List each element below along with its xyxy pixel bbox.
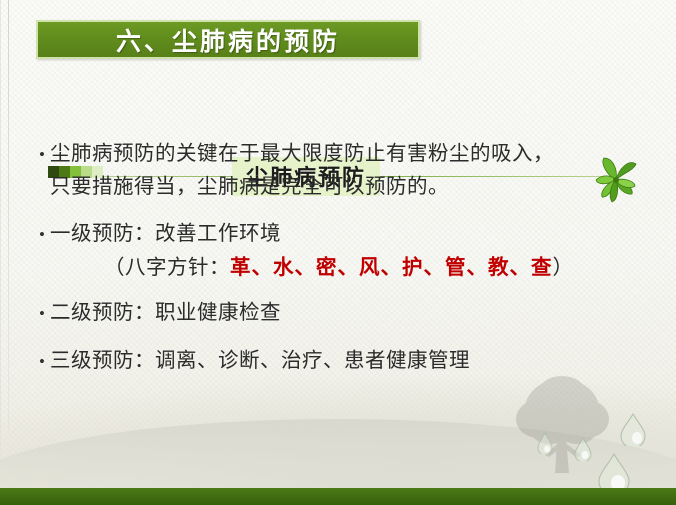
water-droplet-icon	[574, 437, 592, 461]
left-edge-line	[0, 0, 1, 470]
bullet-line-1: 一级预防：改善工作环境	[50, 218, 652, 251]
bullet-marker: •	[34, 218, 50, 252]
water-droplet-icon	[537, 432, 553, 454]
slide-body: • 尘肺病预防的关键在于最大限度防止有害粉尘的吸入， 只要措施得当，尘肺病是完全…	[34, 138, 652, 385]
paren-open: （八字方针：	[104, 257, 230, 279]
slide-canvas: 六、尘肺病的预防 尘肺病预防	[0, 0, 676, 505]
slide-title-box: 六、尘肺病的预防	[36, 20, 420, 59]
page-title: 六、尘肺病的预防	[116, 22, 340, 58]
water-droplet-icon	[598, 453, 630, 493]
bullet-marker: •	[34, 345, 50, 379]
bullet-marker: •	[34, 138, 50, 172]
subtitle-band: 尘肺病预防	[0, 78, 676, 124]
left-margin-rule	[8, 0, 9, 430]
bottom-green-bar	[0, 488, 676, 505]
bullet-text: 三级预防：调离、诊断、治疗、患者健康管理	[50, 345, 652, 378]
water-droplet-icon	[620, 413, 646, 446]
bullet-item: • 二级预防：职业健康检查	[34, 297, 652, 331]
bullet-marker: •	[34, 297, 50, 331]
eight-character-policy: （八字方针：革、水、密、风、护、管、教、查）	[50, 252, 652, 285]
bullet-line-1: 二级预防：职业健康检查	[50, 297, 652, 330]
bullet-item: • 一级预防：改善工作环境 （八字方针：革、水、密、风、护、管、教、查）	[34, 218, 652, 285]
bullet-text: 尘肺病预防的关键在于最大限度防止有害粉尘的吸入， 只要措施得当，尘肺病是完全可以…	[50, 138, 652, 204]
bullet-line-2: 只要措施得当，尘肺病是完全可以预防的。	[50, 171, 652, 204]
bullet-text: 二级预防：职业健康检查	[50, 297, 652, 330]
bullet-item: • 尘肺病预防的关键在于最大限度防止有害粉尘的吸入， 只要措施得当，尘肺病是完全…	[34, 138, 652, 204]
bullet-text: 一级预防：改善工作环境 （八字方针：革、水、密、风、护、管、教、查）	[50, 218, 652, 285]
paren-close: ）	[553, 257, 574, 279]
policy-keywords: 革、水、密、风、护、管、教、查	[230, 257, 553, 279]
bullet-item: • 三级预防：调离、诊断、治疗、患者健康管理	[34, 345, 652, 379]
bullet-line-1: 三级预防：调离、诊断、治疗、患者健康管理	[50, 345, 652, 378]
bullet-line-1: 尘肺病预防的关键在于最大限度防止有害粉尘的吸入，	[50, 138, 652, 171]
